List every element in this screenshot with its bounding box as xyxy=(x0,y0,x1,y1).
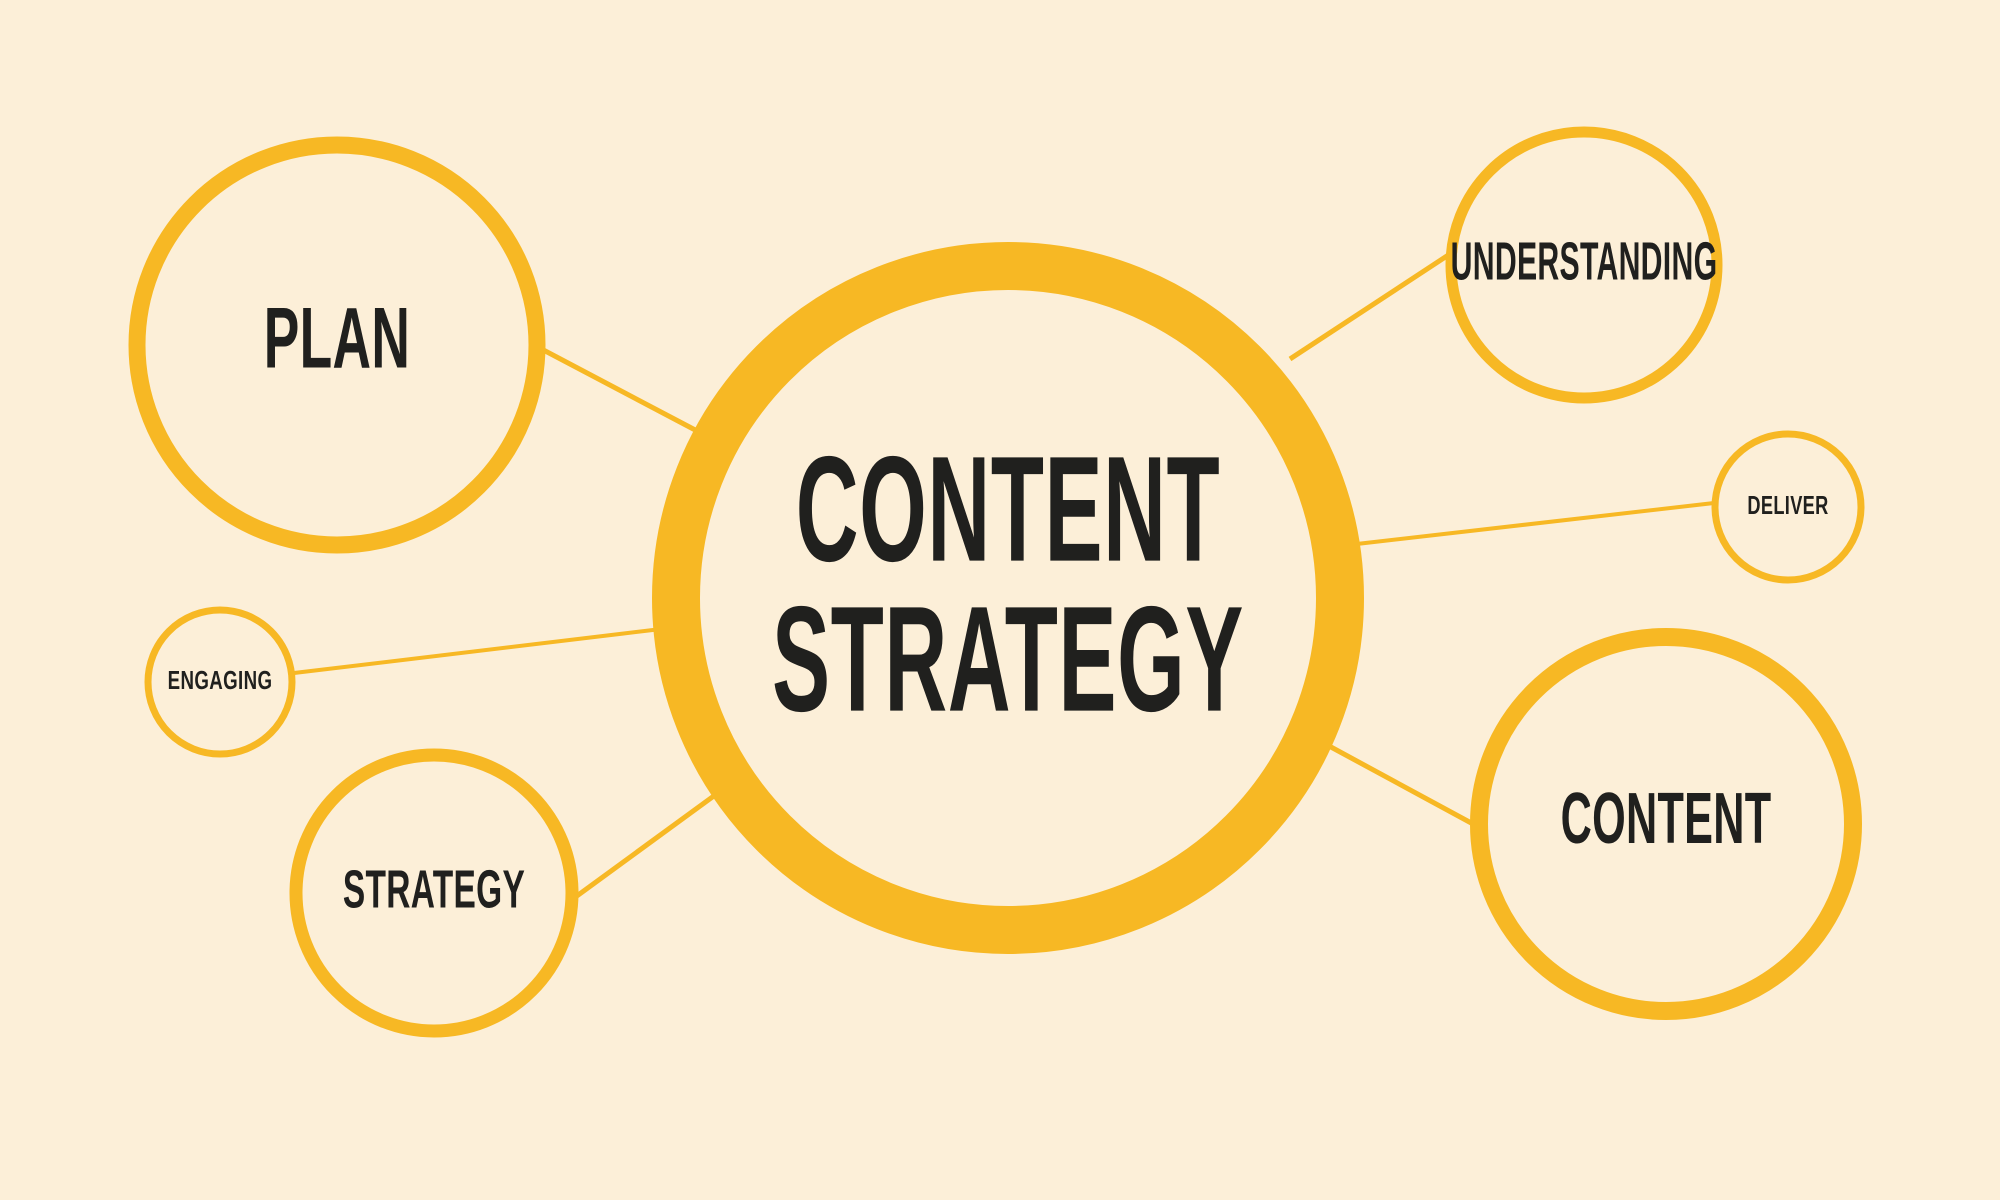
node-strategy[interactable]: STRATEGY xyxy=(296,755,572,1031)
connector-deliver-to-center xyxy=(1348,503,1714,545)
node-plan[interactable]: PLAN xyxy=(137,145,537,545)
node-label-content: CONTENT xyxy=(1561,778,1772,859)
node-label-understanding: UNDERSTANDING xyxy=(1451,231,1718,291)
connector-strategy-to-center xyxy=(570,790,722,901)
connector-plan-to-center xyxy=(532,344,699,432)
connector-engaging-to-center xyxy=(294,627,678,673)
node-label-plan: PLAN xyxy=(264,291,410,387)
node-label-deliver: DELIVER xyxy=(1747,491,1828,520)
center-node-layer: CONTENTSTRATEGY xyxy=(676,266,1340,930)
connector-understanding-to-center xyxy=(1290,250,1456,359)
mind-map-canvas: PLANENGAGINGSTRATEGYUNDERSTANDINGDELIVER… xyxy=(0,0,2000,1200)
center-label-line1: CONTENT xyxy=(796,425,1221,593)
node-label-strategy: STRATEGY xyxy=(343,858,525,919)
connector-content-to-center xyxy=(1318,740,1486,831)
node-label-engaging: ENGAGING xyxy=(168,665,273,695)
node-engaging[interactable]: ENGAGING xyxy=(148,610,292,754)
node-content[interactable]: CONTENT xyxy=(1479,637,1853,1011)
node-deliver[interactable]: DELIVER xyxy=(1715,434,1861,580)
node-understanding[interactable]: UNDERSTANDING xyxy=(1451,132,1718,398)
mind-map-diagram: PLANENGAGINGSTRATEGYUNDERSTANDINGDELIVER… xyxy=(0,0,2000,1200)
center-label-line2: STRATEGY xyxy=(772,575,1244,743)
node-content-strategy[interactable]: CONTENTSTRATEGY xyxy=(676,266,1340,930)
